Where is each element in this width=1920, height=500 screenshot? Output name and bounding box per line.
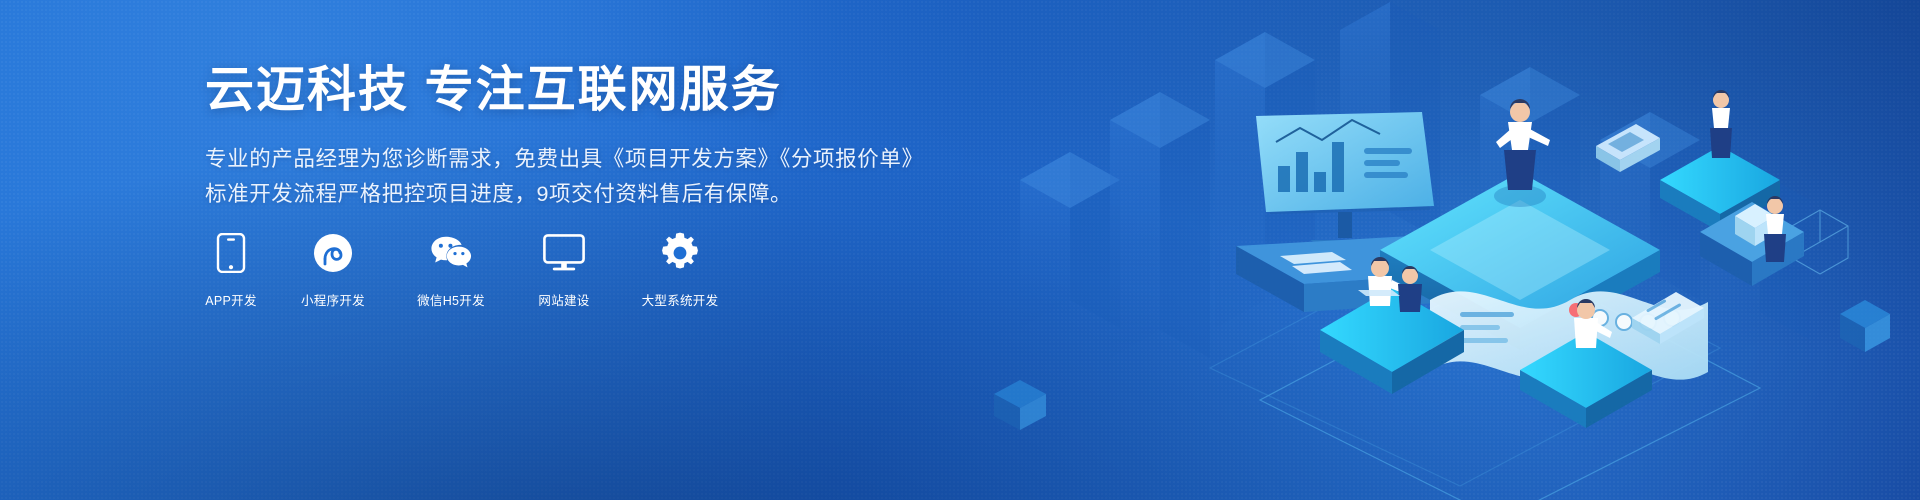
service-item-app[interactable]: APP开发 [205,232,257,309]
service-list: APP开发 小程序开发 [205,232,725,309]
service-label: 大型系统开发 [642,290,719,309]
mini-program-icon [312,232,354,274]
wechat-icon [430,232,472,274]
service-item-large-system[interactable]: 大型系统开发 [635,232,725,309]
service-item-website[interactable]: 网站建设 [531,232,597,309]
figure-presenter [1494,99,1550,207]
banner-sublines: 专业的产品经理为您诊断需求，免费出具《项目开发方案》《分项报价单》 标准开发流程… [205,142,1125,212]
monitor-icon [543,232,585,274]
service-item-wechat-h5[interactable]: 微信H5开发 [409,232,493,309]
banner-subline-2: 标准开发流程严格把控项目进度，9项交付资料售后有保障。 [205,177,1125,212]
service-label: 微信H5开发 [417,290,485,309]
hero-banner: 云迈科技 专注互联网服务 专业的产品经理为您诊断需求，免费出具《项目开发方案》《… [0,0,1920,500]
banner-subline-1: 专业的产品经理为您诊断需求，免费出具《项目开发方案》《分项报价单》 [205,142,1125,177]
banner-headline: 云迈科技 专注互联网服务 [205,62,1125,120]
mobile-phone-icon [210,232,252,274]
service-label: APP开发 [205,290,257,309]
banner-content: 云迈科技 专注互联网服务 专业的产品经理为您诊断需求，免费出具《项目开发方案》《… [205,62,1125,211]
service-item-mini-program[interactable]: 小程序开发 [295,232,371,309]
service-label: 小程序开发 [301,290,365,309]
service-label: 网站建设 [538,290,589,309]
gear-icon [659,232,701,274]
